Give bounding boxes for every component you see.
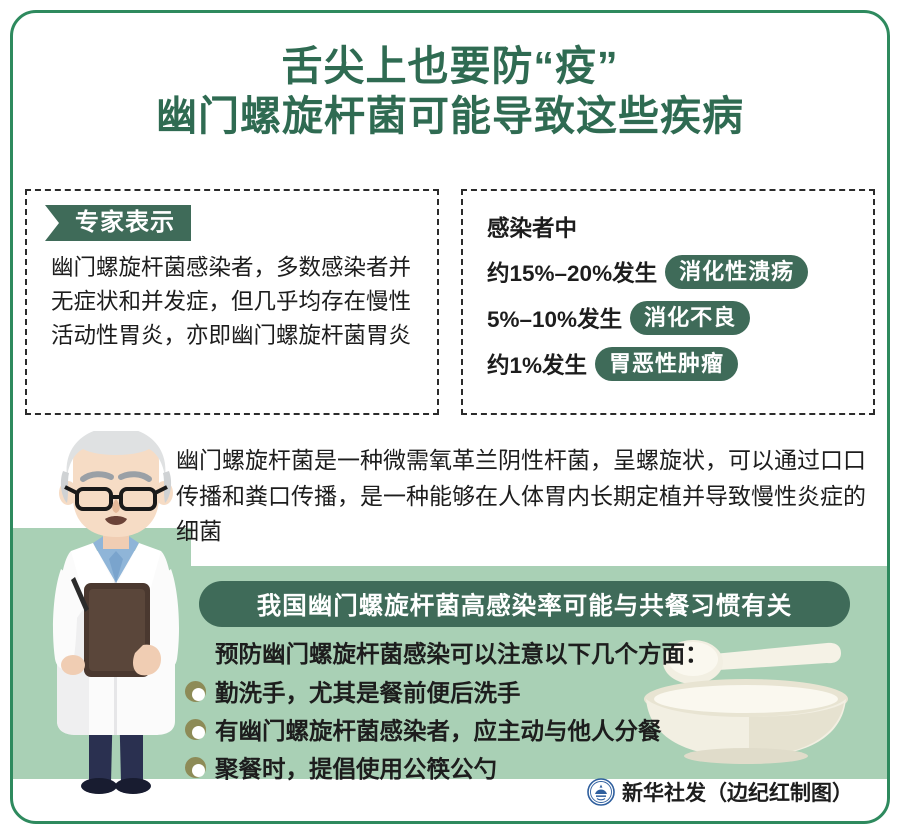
prevention-item-text: 有幽门螺旋杆菌感染者，应主动与他人分餐 [215, 712, 662, 746]
stat-row: 5%–10%发生 消化不良 [487, 295, 867, 341]
stats-list: 约15%–20%发生 消化性溃疡 5%–10%发生 消化不良 约1%发生 胃恶性… [487, 249, 867, 387]
title-line-1: 舌尖上也要防“疫” [13, 41, 887, 91]
disease-pill: 消化性溃疡 [665, 255, 808, 289]
info-boxes-row: 专家表示 幽门螺旋杆菌感染者，多数感染者并无症状和并发症，但几乎均存在慢性活动性… [25, 189, 875, 415]
expert-statement-text: 幽门螺旋杆菌感染者，多数感染者并无症状和并发症，但几乎均存在慢性活动性胃炎，亦即… [51, 251, 425, 354]
infographic-poster: 舌尖上也要防“疫” 幽门螺旋杆菌可能导致这些疾病 专家表示 幽门螺旋杆菌感染者，… [0, 0, 900, 834]
stat-label: 约15%–20%发生 [487, 256, 657, 288]
credit-line: 新华社发（边纪红制图） [587, 777, 853, 807]
prevention-heading: 预防幽门螺旋杆菌感染可以注意以下几个方面： [215, 635, 845, 669]
prevention-item-text: 聚餐时，提倡使用公筷公勺 [215, 750, 497, 784]
credit-text: 新华社发（边纪红制图） [622, 777, 853, 807]
sharing-meal-banner: 我国幽门螺旋杆菌高感染率可能与共餐习惯有关 [199, 581, 850, 627]
stat-row: 约15%–20%发生 消化性溃疡 [487, 249, 867, 295]
list-item: 勤洗手，尤其是餐前便后洗手 [185, 674, 845, 708]
stat-label: 5%–10%发生 [487, 302, 622, 334]
stat-row: 约1%发生 胃恶性肿瘤 [487, 341, 867, 387]
disease-pill: 消化不良 [630, 301, 750, 335]
xinhua-logo-icon [587, 778, 615, 806]
title-line-2: 幽门螺旋杆菌可能导致这些疾病 [13, 91, 887, 141]
bacteria-description: 幽门螺旋杆菌是一种微需氧革兰阴性杆菌，呈螺旋状，可以通过口口传播和粪口传播，是一… [176, 443, 888, 550]
ring-bullet-icon [185, 757, 206, 778]
prevention-item-text: 勤洗手，尤其是餐前便后洗手 [215, 674, 521, 708]
ring-bullet-icon [185, 719, 206, 740]
disease-pill: 胃恶性肿瘤 [595, 347, 738, 381]
stat-label: 约1%发生 [487, 348, 587, 380]
poster-title: 舌尖上也要防“疫” 幽门螺旋杆菌可能导致这些疾病 [13, 41, 887, 141]
expert-banner-label: 专家表示 [45, 205, 191, 241]
list-item: 有幽门螺旋杆菌感染者，应主动与他人分餐 [185, 712, 845, 746]
prevention-section: 预防幽门螺旋杆菌感染可以注意以下几个方面： 勤洗手，尤其是餐前便后洗手 有幽门螺… [185, 635, 845, 788]
poster-frame: 舌尖上也要防“疫” 幽门螺旋杆菌可能导致这些疾病 专家表示 幽门螺旋杆菌感染者，… [10, 10, 890, 824]
expert-statement-box: 专家表示 幽门螺旋杆菌感染者，多数感染者并无症状和并发症，但几乎均存在慢性活动性… [25, 189, 439, 415]
stats-heading: 感染者中 [487, 211, 577, 243]
infection-stats-box: 感染者中 约15%–20%发生 消化性溃疡 5%–10%发生 消化不良 约1%发… [461, 189, 875, 415]
ring-bullet-icon [185, 681, 206, 702]
